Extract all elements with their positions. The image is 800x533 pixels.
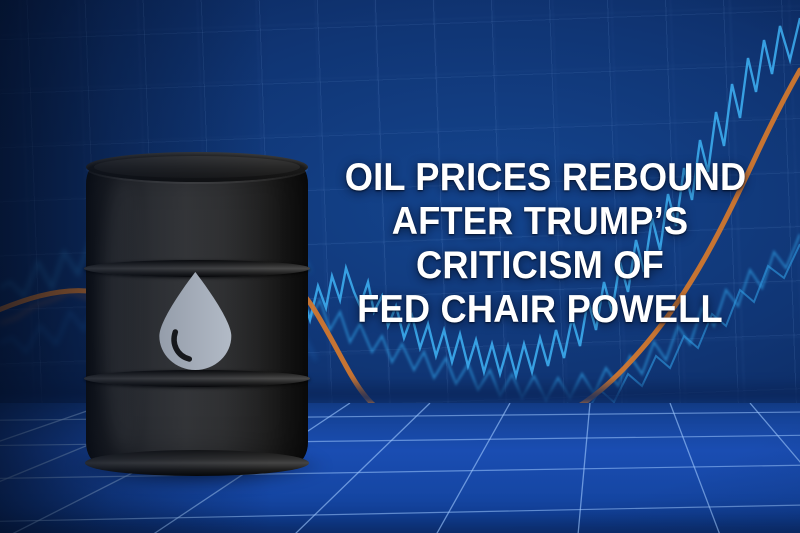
headline-line-1: OIL PRICES REBOUND xyxy=(345,156,736,200)
headline: OIL PRICES REBOUND AFTER TRUMP’S CRITICI… xyxy=(345,156,736,332)
headline-line-4: FED CHAIR POWELL xyxy=(345,288,736,332)
headline-line-3: CRITICISM OF xyxy=(345,244,736,288)
news-graphic: OIL PRICES REBOUND AFTER TRUMP’S CRITICI… xyxy=(0,0,800,533)
headline-line-2: AFTER TRUMP’S xyxy=(345,200,736,244)
